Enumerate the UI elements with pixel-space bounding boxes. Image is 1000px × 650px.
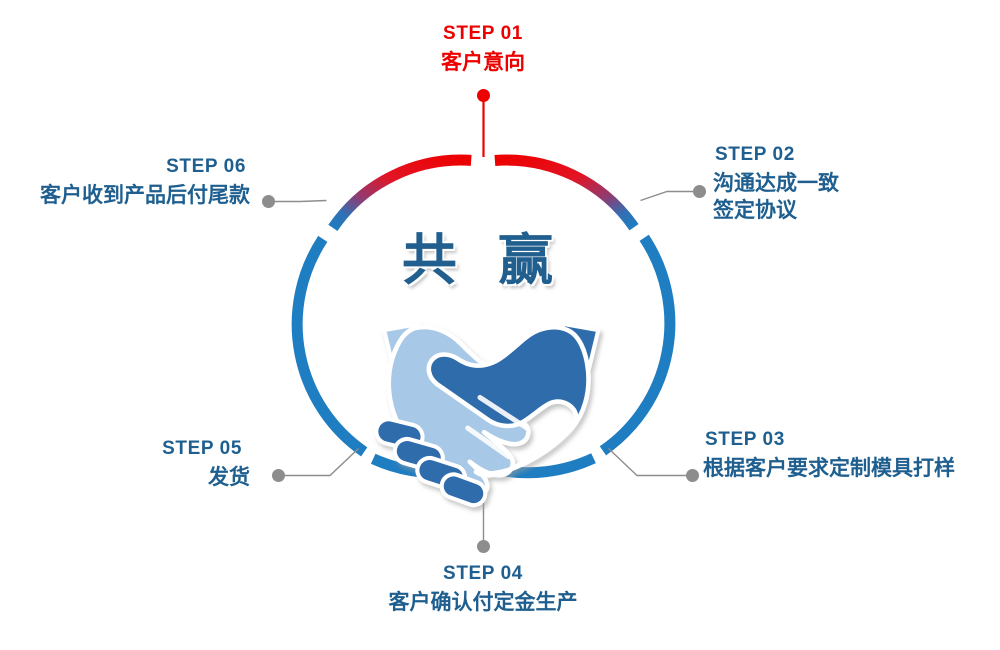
infographic-canvas: 共 赢 STEP 01 客户意向 STEP 02 沟通达成一致 签定协议 STE… bbox=[0, 0, 1000, 650]
connector-step-06 bbox=[268, 201, 327, 202]
ring-arc-05-to-06 bbox=[297, 239, 364, 452]
step-item-05[interactable]: STEP 05 发货 bbox=[40, 437, 250, 491]
connector-step-03 bbox=[609, 449, 691, 476]
step-dot-05[interactable] bbox=[272, 469, 285, 482]
handshake-light-hand bbox=[389, 327, 539, 496]
step-number-05: STEP 05 bbox=[40, 437, 242, 461]
step-number-03: STEP 03 bbox=[705, 428, 993, 452]
step-title-01-line-1: 客户意向 bbox=[383, 49, 583, 76]
step-title-06-line-1: 客户收到产品后付尾款 bbox=[10, 182, 250, 209]
handshake-left-cuff bbox=[384, 324, 441, 397]
step-dot-01[interactable] bbox=[477, 89, 490, 102]
ring-arc-04-to-05 bbox=[373, 459, 469, 473]
step-title-02-line-2: 签定协议 bbox=[713, 197, 973, 224]
step-number-06: STEP 06 bbox=[10, 155, 246, 179]
center-emblem-text: 共 赢 bbox=[383, 215, 583, 295]
handshake-creases bbox=[468, 397, 527, 456]
step-dot-04[interactable] bbox=[477, 540, 490, 553]
step-dot-06[interactable] bbox=[262, 195, 275, 208]
step-item-01[interactable]: STEP 01 客户意向 bbox=[383, 22, 583, 76]
step-item-06[interactable]: STEP 06 客户收到产品后付尾款 bbox=[10, 155, 250, 209]
step-number-02: STEP 02 bbox=[715, 143, 973, 167]
handshake-fingers bbox=[374, 417, 489, 509]
connector-lines bbox=[268, 97, 697, 545]
step-dot-03[interactable] bbox=[686, 469, 699, 482]
step-item-04[interactable]: STEP 04 客户确认付定金生产 bbox=[383, 562, 583, 616]
step-title-04-line-1: 客户确认付定金生产 bbox=[383, 589, 583, 616]
step-number-01: STEP 01 bbox=[383, 22, 583, 46]
step-title-05-line-1: 发货 bbox=[40, 464, 250, 491]
step-item-03[interactable]: STEP 03 根据客户要求定制模具打样 bbox=[703, 428, 993, 482]
connector-step-05 bbox=[278, 449, 359, 476]
step-title-04: 客户确认付定金生产 bbox=[383, 589, 583, 616]
step-title-06: 客户收到产品后付尾款 bbox=[10, 182, 250, 209]
step-item-02[interactable]: STEP 02 沟通达成一致 签定协议 bbox=[713, 143, 973, 224]
step-title-03: 根据客户要求定制模具打样 bbox=[703, 455, 993, 482]
process-ring-graphic bbox=[0, 0, 1000, 650]
ring-segments bbox=[297, 160, 670, 473]
connector-step-02 bbox=[641, 192, 698, 201]
step-title-05: 发货 bbox=[40, 464, 250, 491]
step-title-01: 客户意向 bbox=[383, 49, 583, 76]
ring-arc-02-to-03 bbox=[603, 238, 670, 451]
step-title-02: 沟通达成一致 签定协议 bbox=[713, 170, 973, 224]
ring-arc-03-to-04 bbox=[497, 458, 594, 473]
handshake-dark-hand bbox=[429, 327, 589, 475]
step-dot-02[interactable] bbox=[693, 185, 706, 198]
step-number-04: STEP 04 bbox=[383, 562, 583, 586]
step-title-02-line-1: 沟通达成一致 bbox=[713, 170, 973, 197]
handshake-right-cuff bbox=[541, 324, 598, 397]
step-title-03-line-1: 根据客户要求定制模具打样 bbox=[703, 455, 993, 482]
handshake-icon bbox=[374, 324, 599, 508]
